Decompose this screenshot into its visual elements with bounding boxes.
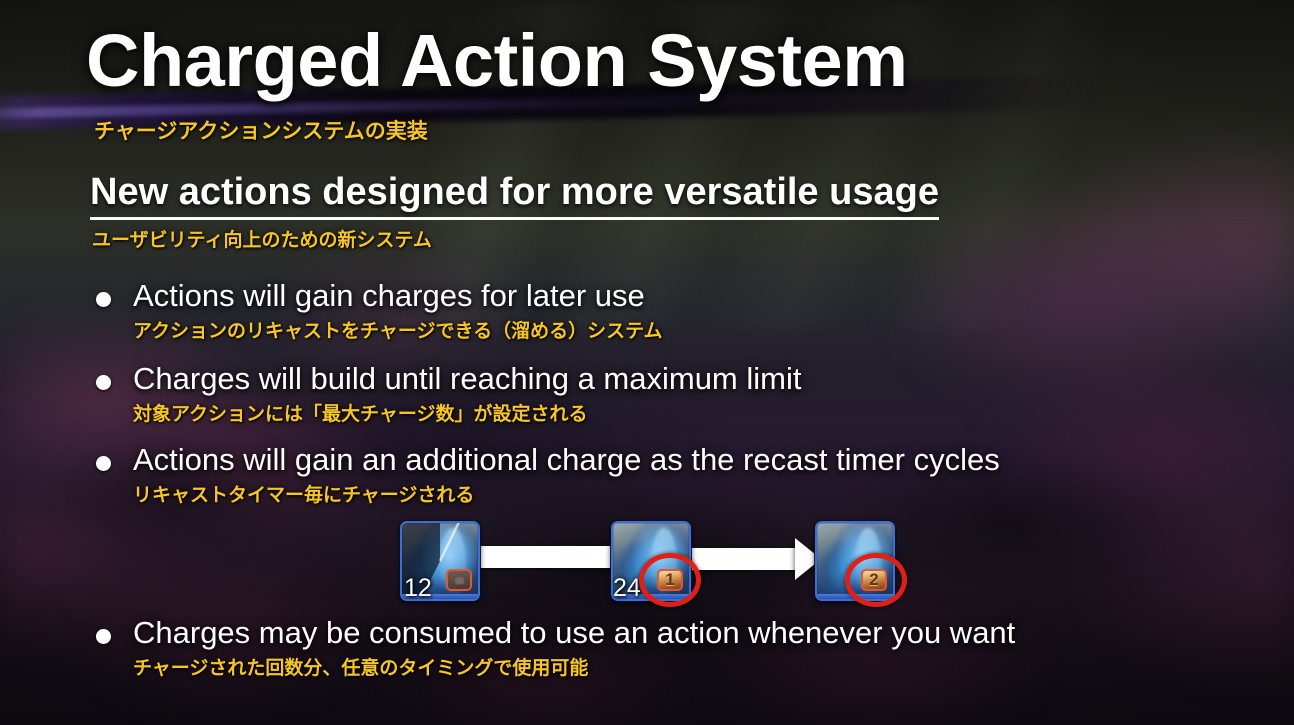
bullet-text-en: Actions will gain an additional charge a…	[133, 442, 1000, 479]
bullet-dot-icon	[96, 456, 111, 471]
bullet-text-en: Charges will build until reaching a maxi…	[133, 361, 801, 398]
bullet-text-jp: チャージされた回数分、任意のタイミングで使用可能	[133, 653, 1015, 680]
bullet-item: Actions will gain charges for later use …	[96, 278, 663, 343]
charge-highlight-ring-2	[639, 553, 701, 607]
bullet-item: Charges will build until reaching a maxi…	[96, 361, 801, 426]
presentation-slide: Charged Action System チャージアクションシステムの実装 N…	[0, 0, 1294, 725]
bullet-item: Charges may be consumed to use an action…	[96, 615, 1015, 680]
bullet-text-jp: アクションのリキャストをチャージできる（溜める）システム	[133, 316, 663, 343]
bullet-dot-icon	[96, 375, 111, 390]
page-title-japanese: チャージアクションシステムの実装	[94, 115, 428, 145]
progression-arrow-2-shaft	[688, 548, 798, 570]
charge-highlight-ring-3	[845, 553, 907, 607]
progression-arrow-1	[472, 546, 622, 568]
section-heading: New actions designed for more versatile …	[90, 172, 939, 220]
bullet-text-jp: リキャストタイマー毎にチャージされる	[133, 480, 1000, 507]
charge-count-badge-1	[446, 569, 472, 591]
bullet-text-jp: 対象アクションには「最大チャージ数」が設定される	[133, 399, 801, 426]
bullet-text-en: Charges may be consumed to use an action…	[133, 615, 1015, 652]
section-heading-japanese: ユーザビリティ向上のための新システム	[92, 225, 432, 252]
bullet-text-en: Actions will gain charges for later use	[133, 278, 645, 315]
page-title: Charged Action System	[86, 24, 908, 98]
bullet-dot-icon	[96, 292, 111, 307]
bullet-dot-icon	[96, 629, 111, 644]
bullet-item: Actions will gain an additional charge a…	[96, 442, 1000, 507]
